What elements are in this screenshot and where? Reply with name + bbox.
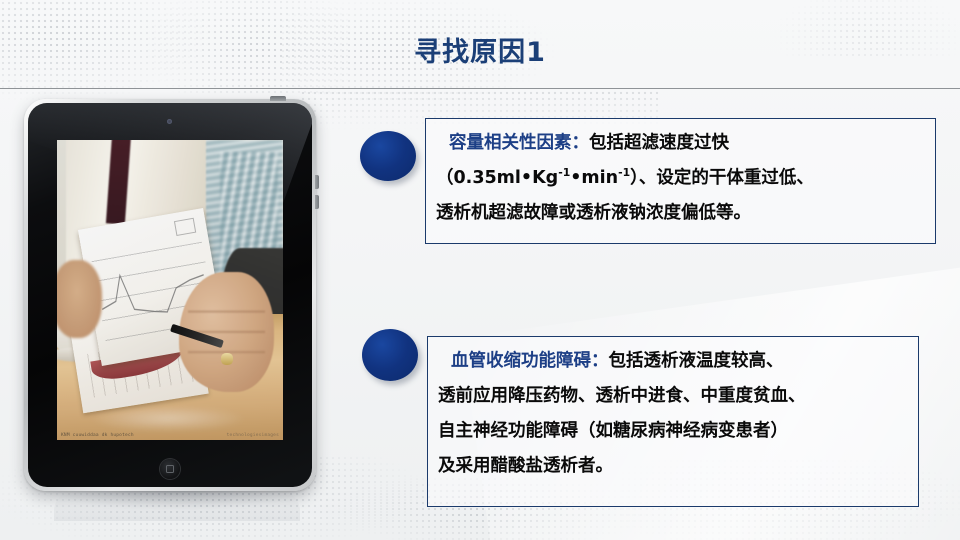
volume-down-button[interactable] [315, 195, 319, 209]
bullet-1-line-2-post: ）、设定的干体重过低、 [630, 168, 814, 188]
bullet-2-lead: 血管收缩功能障碍： [451, 351, 609, 371]
page-title: 寻找原因1 [0, 30, 960, 69]
tablet-device: KNM cuuwiddaa dk hupotech technologiesim… [24, 99, 316, 491]
photo-desk-charts: KNM cuuwiddaa dk hupotech technologiesim… [57, 140, 283, 440]
bullet-2-line-1-rest: 包括透析液温度较高、 [609, 351, 784, 371]
photo-tint-overlay [57, 140, 283, 440]
bullet-1-lead: 容量相关性因素： [449, 133, 589, 153]
photo-watermark-left: KNM cuuwiddaa dk hupotech [61, 433, 134, 438]
content-box-1-line-3: 透析机超滤故障或透析液钠浓度偏低等。 [436, 196, 925, 231]
bullet-1-line-2-mid: •min [570, 168, 618, 188]
content-box-2-line-1: 血管收缩功能障碍：包括透析液温度较高、 [438, 344, 908, 379]
bullet-1-sup-2: -1 [618, 166, 630, 179]
content-box-1: 容量相关性因素：包括超滤速度过快 （0.35ml•Kg-1•min-1）、设定的… [425, 118, 936, 244]
content-box-1-line-1: 容量相关性因素：包括超滤速度过快 [436, 126, 925, 161]
content-box-2-line-2: 透前应用降压药物、透析中进食、中重度贫血、 [438, 379, 908, 414]
photo-watermark: KNM cuuwiddaa dk hupotech technologiesim… [61, 433, 279, 438]
home-square-icon [166, 465, 174, 473]
title-divider [0, 88, 960, 89]
front-camera-icon [167, 119, 172, 124]
content-box-2-line-3: 自主神经功能障碍（如糖尿病神经病变患者） [438, 414, 908, 449]
content-box-2: 血管收缩功能障碍：包括透析液温度较高、 透前应用降压药物、透析中进食、中重度贫血… [427, 336, 919, 507]
bullet-1-line-2-pre: （0.35ml•Kg [436, 168, 558, 188]
home-button[interactable] [160, 459, 180, 479]
photo-watermark-right: technologiesimages [227, 433, 279, 438]
content-box-2-line-4: 及采用醋酸盐透析者。 [438, 449, 908, 484]
bullet-dot-1 [360, 131, 416, 181]
bullet-dot-2 [362, 329, 418, 381]
tablet-reflection [54, 491, 300, 521]
content-box-1-line-2: （0.35ml•Kg-1•min-1）、设定的干体重过低、 [436, 161, 925, 196]
tablet-bezel: KNM cuuwiddaa dk hupotech technologiesim… [28, 103, 312, 487]
bullet-1-line-1-rest: 包括超滤速度过快 [589, 133, 729, 153]
power-button[interactable] [270, 96, 286, 101]
tablet-illustration: KNM cuuwiddaa dk hupotech technologiesim… [24, 99, 334, 499]
slide-canvas: 寻找原因1 [0, 0, 960, 540]
tablet-screen-photo: KNM cuuwiddaa dk hupotech technologiesim… [57, 140, 283, 440]
bullet-1-sup-1: -1 [558, 166, 570, 179]
volume-up-button[interactable] [315, 175, 319, 189]
